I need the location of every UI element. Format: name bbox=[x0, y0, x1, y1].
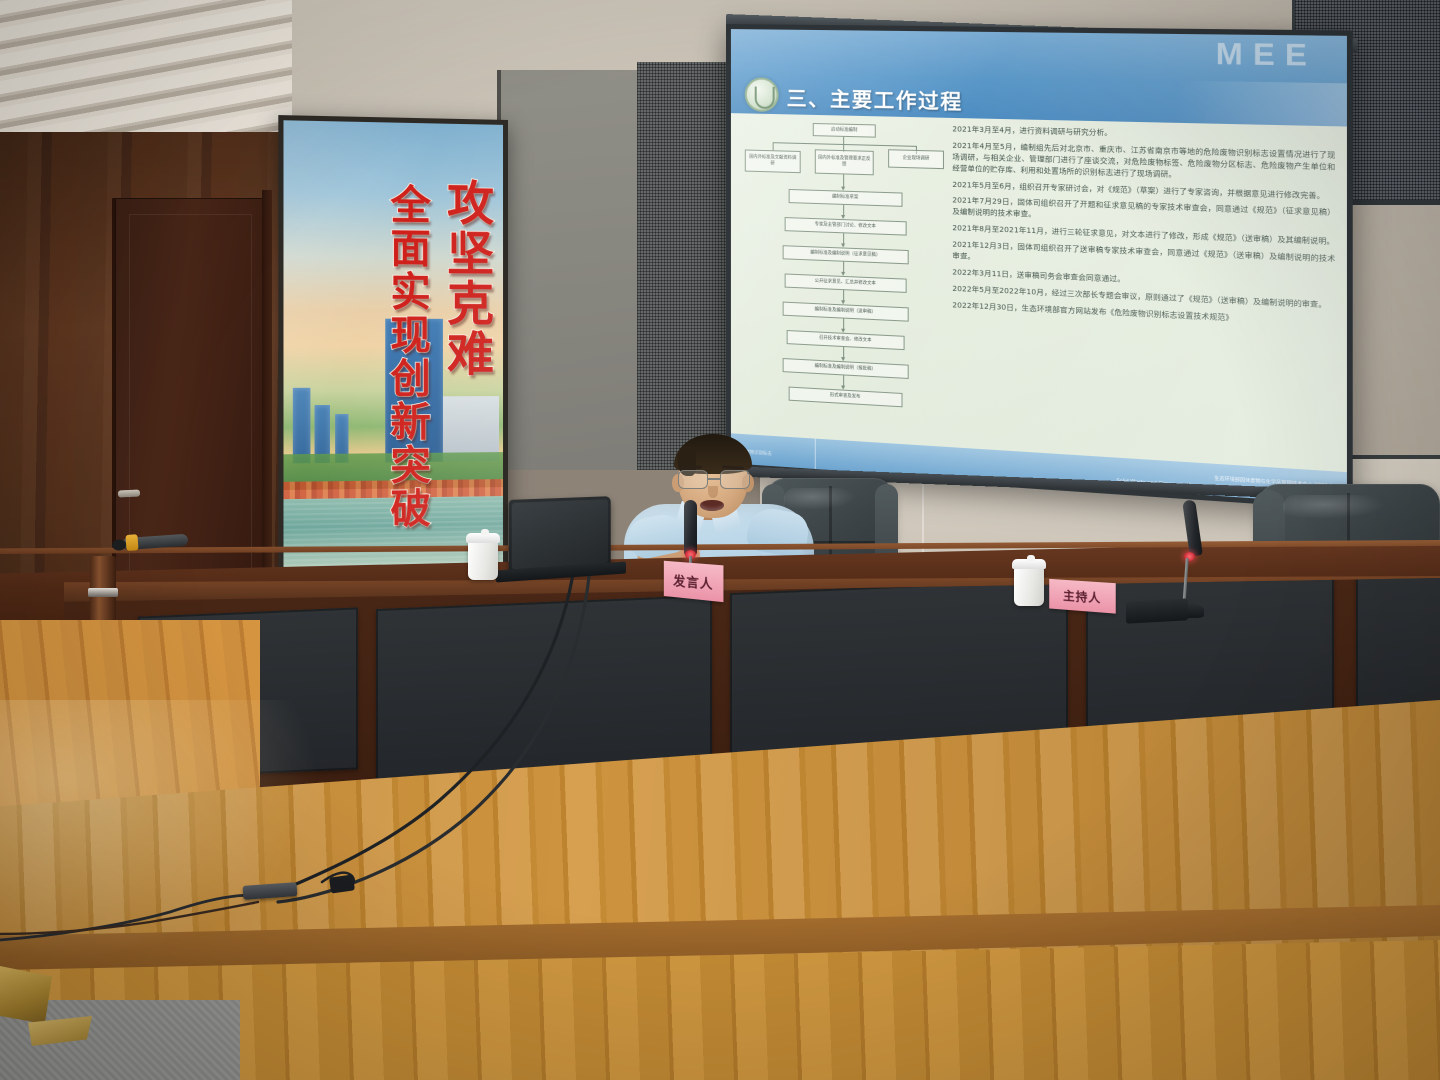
eyeglass-lens-right bbox=[720, 470, 750, 489]
slide-title: 三、主要工作过程 bbox=[787, 78, 963, 118]
presentation-slide: MEE 三、主要工作过程 启动标准编制 国内外标准及文献资料调研 国内外标准及管… bbox=[731, 29, 1347, 504]
conference-room-photo: MEE 三、主要工作过程 启动标准编制 国内外标准及文献资料调研 国内外标准及管… bbox=[0, 0, 1440, 1080]
flow-node: 企业现场调研 bbox=[888, 149, 944, 169]
teacup-lid-knob bbox=[1027, 555, 1035, 561]
flow-node: 专家及主管部门讨论、修改文本 bbox=[785, 217, 907, 236]
flow-node: 编制标准及编制说明（征求意见稿） bbox=[783, 245, 909, 264]
wall-banner-lightbox: 攻坚克难 全面实现创新突破 bbox=[278, 115, 508, 577]
flow-node: 形式审查及发布 bbox=[789, 387, 903, 408]
banner-glare bbox=[283, 120, 503, 571]
flow-node: 召开技术审查会、修改文本 bbox=[787, 330, 905, 350]
slide-body-text: 2021年3月至4月，进行资料调研与研究分析。 2021年4月至5月，编制组先后… bbox=[952, 124, 1335, 334]
black-control-box[interactable] bbox=[1126, 598, 1188, 623]
flow-node: 编制标准及编制说明（报批稿） bbox=[783, 358, 909, 379]
flow-node: 编制标准草案 bbox=[789, 189, 903, 207]
mee-emblem-icon bbox=[745, 77, 779, 112]
eyeglass-bridge bbox=[708, 478, 720, 480]
slide-flowchart: 启动标准编制 国内外标准及文献资料调研 国内外标准及管理要求正反馈 企业现场调研… bbox=[743, 121, 946, 434]
eyeglass-lens-left bbox=[678, 470, 708, 489]
teacup-lid-knob bbox=[481, 529, 489, 535]
flow-connector bbox=[773, 142, 917, 147]
wall-banner-artwork: 攻坚克难 全面实现创新突破 bbox=[283, 120, 503, 571]
flow-node: 公开征求意见、汇总并修改文本 bbox=[785, 273, 907, 292]
chair-highlight bbox=[1283, 495, 1385, 519]
cable-connector-plug bbox=[329, 874, 355, 893]
flow-node: 国内外标准及管理要求正反馈 bbox=[815, 149, 874, 175]
laptop-screen[interactable] bbox=[509, 496, 611, 574]
mee-logo-text: MEE bbox=[1216, 38, 1317, 75]
flow-node: 国内外标准及文献资料调研 bbox=[745, 149, 801, 173]
teacup-right[interactable] bbox=[1014, 566, 1044, 606]
flow-connector bbox=[843, 137, 844, 144]
flow-connector bbox=[773, 142, 774, 150]
projection-screen: MEE 三、主要工作过程 启动标准编制 国内外标准及文献资料调研 国内外标准及管… bbox=[726, 24, 1353, 510]
speaker-nose bbox=[708, 486, 718, 498]
microphone-capsule bbox=[684, 500, 697, 556]
flow-node: 编制标准及编制说明（送审稿） bbox=[783, 302, 909, 322]
nameplate-speaker: 发言人 bbox=[664, 561, 724, 602]
door-handle[interactable] bbox=[118, 489, 140, 497]
speaker-mouth bbox=[700, 500, 724, 511]
slide-paragraph: 2021年4月至5月，编制组先后对北京市、重庆市、江苏省南京市等地的危险废物识别… bbox=[952, 141, 1335, 185]
teacup-left[interactable] bbox=[468, 540, 498, 580]
nameplate-moderator: 主持人 bbox=[1049, 579, 1116, 614]
flow-node: 启动标准编制 bbox=[813, 123, 876, 138]
